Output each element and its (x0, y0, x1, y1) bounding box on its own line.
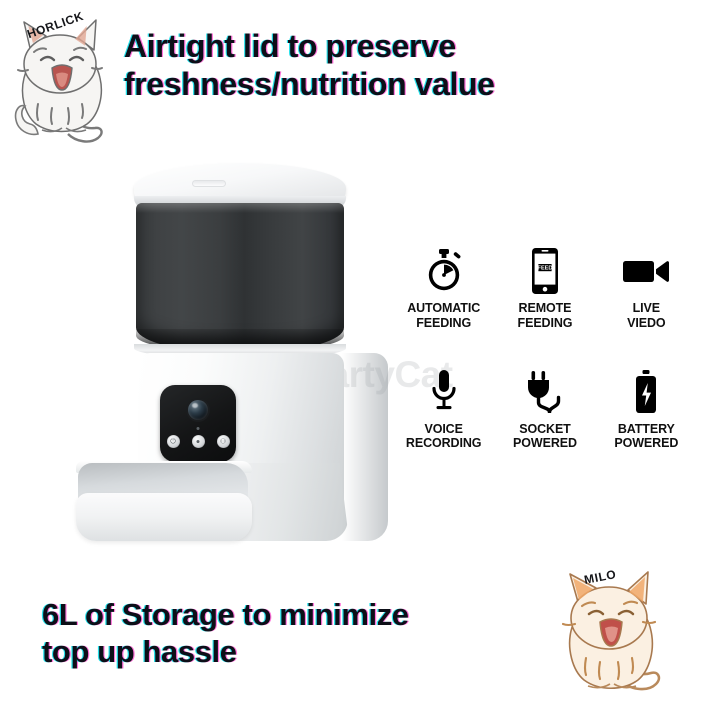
feature-label: AUTOMATIC FEEDING (407, 301, 480, 331)
feature-label: REMOTE FEEDING (518, 301, 573, 331)
cat-sticker-milo: MILO (548, 558, 676, 706)
feature-voice-recording: VOICE RECORDING (395, 369, 492, 452)
product-image-pet-feeder: ⏻ ● ⚇ (78, 163, 388, 563)
feature-battery-powered: BATTERY POWERED (598, 369, 695, 452)
power-button-icon: ⏻ (167, 435, 180, 448)
video-camera-icon (623, 248, 669, 294)
cat-sticker-horlick: HORLICK (8, 8, 116, 148)
power-plug-icon (523, 369, 567, 415)
camera-lens-icon (188, 400, 208, 420)
feature-live-video: LIVE VIEDO (598, 248, 695, 331)
headline-text: Airtight lid to preserve freshness/nutri… (124, 28, 644, 104)
feature-socket-powered: SOCKET POWERED (496, 369, 593, 452)
lid-grip-notch (192, 180, 226, 187)
camera-control-panel: ⏻ ● ⚇ (160, 385, 236, 462)
feature-remote-feeding: FEED REMOTE FEEDING (496, 248, 593, 331)
svg-text:FEED: FEED (538, 266, 553, 272)
feature-label: SOCKET POWERED (513, 422, 577, 452)
feature-label: BATTERY POWERED (614, 422, 678, 452)
product-feature-graphic: Airtight lid to preserve freshness/nutri… (0, 0, 713, 713)
feature-label: VOICE RECORDING (406, 422, 482, 452)
microphone-icon (430, 369, 458, 415)
stopwatch-icon (424, 248, 464, 294)
feature-icon-grid: AUTOMATIC FEEDING FEED REMOTE FEEDING (395, 248, 695, 451)
mic-button-icon: ⚇ (217, 435, 230, 448)
hopper-sheen (136, 203, 344, 213)
status-led-icon (197, 427, 200, 430)
feeder-bowl-front (76, 493, 252, 541)
wifi-button-icon: ● (192, 435, 205, 448)
feeder-food-hopper (136, 203, 344, 351)
battery-bolt-icon (633, 369, 659, 415)
caption-text: 6L of Storage to minimize top up hassle (42, 597, 562, 670)
feature-label: LIVE VIEDO (627, 301, 665, 331)
feature-automatic-feeding: AUTOMATIC FEEDING (395, 248, 492, 331)
panel-button-row: ⏻ ● ⚇ (160, 435, 236, 448)
smartphone-feed-icon: FEED (530, 248, 560, 294)
feeder-body-shading (342, 353, 388, 541)
